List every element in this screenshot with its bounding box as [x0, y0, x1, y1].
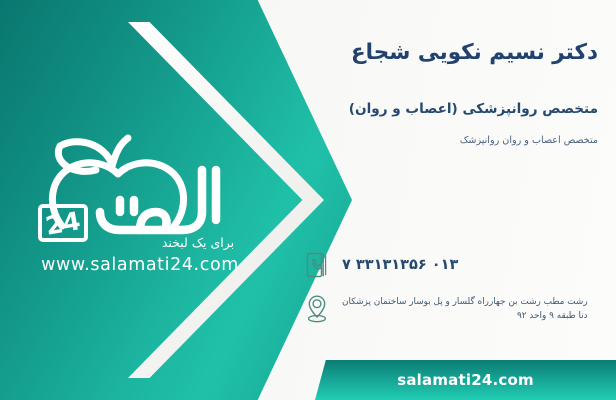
doctor-specialty-subtitle: متخصص اعصاب و روان روانپزشک: [302, 134, 598, 147]
location-pin-icon: [302, 292, 332, 326]
logo-tagline: برای یک لبخند: [162, 235, 234, 251]
phone-number[interactable]: ۷ ۳۳۱۳۱۳۵۶ ۰۱۳: [342, 257, 458, 273]
svg-text:24: 24: [43, 206, 82, 241]
logo-website: www.salamati24.com: [41, 255, 239, 275]
banner-website-text: salamati24.com: [397, 371, 534, 389]
logo-24-badge: 24: [40, 206, 86, 241]
address-row[interactable]: رشت مطب رشت بن جهارراه گلسار و پل بوسار …: [302, 292, 598, 326]
phone-row[interactable]: ۷ ۳۳۱۳۱۳۵۶ ۰۱۳: [302, 248, 598, 282]
phone-book-icon: [302, 248, 332, 282]
address-line-2: دنا طبقه ۹ واحد ۹۲: [517, 311, 588, 321]
address-text[interactable]: رشت مطب رشت بن جهارراه گلسار و پل بوسار …: [342, 295, 588, 324]
website-banner[interactable]: salamati24.com: [315, 360, 616, 400]
doctor-name: دکتر نسیم نکویی شجاع: [302, 40, 598, 67]
doctor-profile-card: 24 برای یک لبخند www.salamati24.com دکتر…: [0, 0, 616, 400]
address-line-1: رشت مطب رشت بن جهارراه گلسار و پل بوسار …: [342, 297, 588, 307]
content-column: دکتر نسیم نکویی شجاع متخصص روانپزشکی (اع…: [298, 0, 602, 400]
doctor-specialty: متخصص روانپزشکی (اعصاب و روان): [302, 100, 598, 119]
salamati24-logo: 24 برای یک لبخند www.salamati24.com: [16, 108, 292, 278]
